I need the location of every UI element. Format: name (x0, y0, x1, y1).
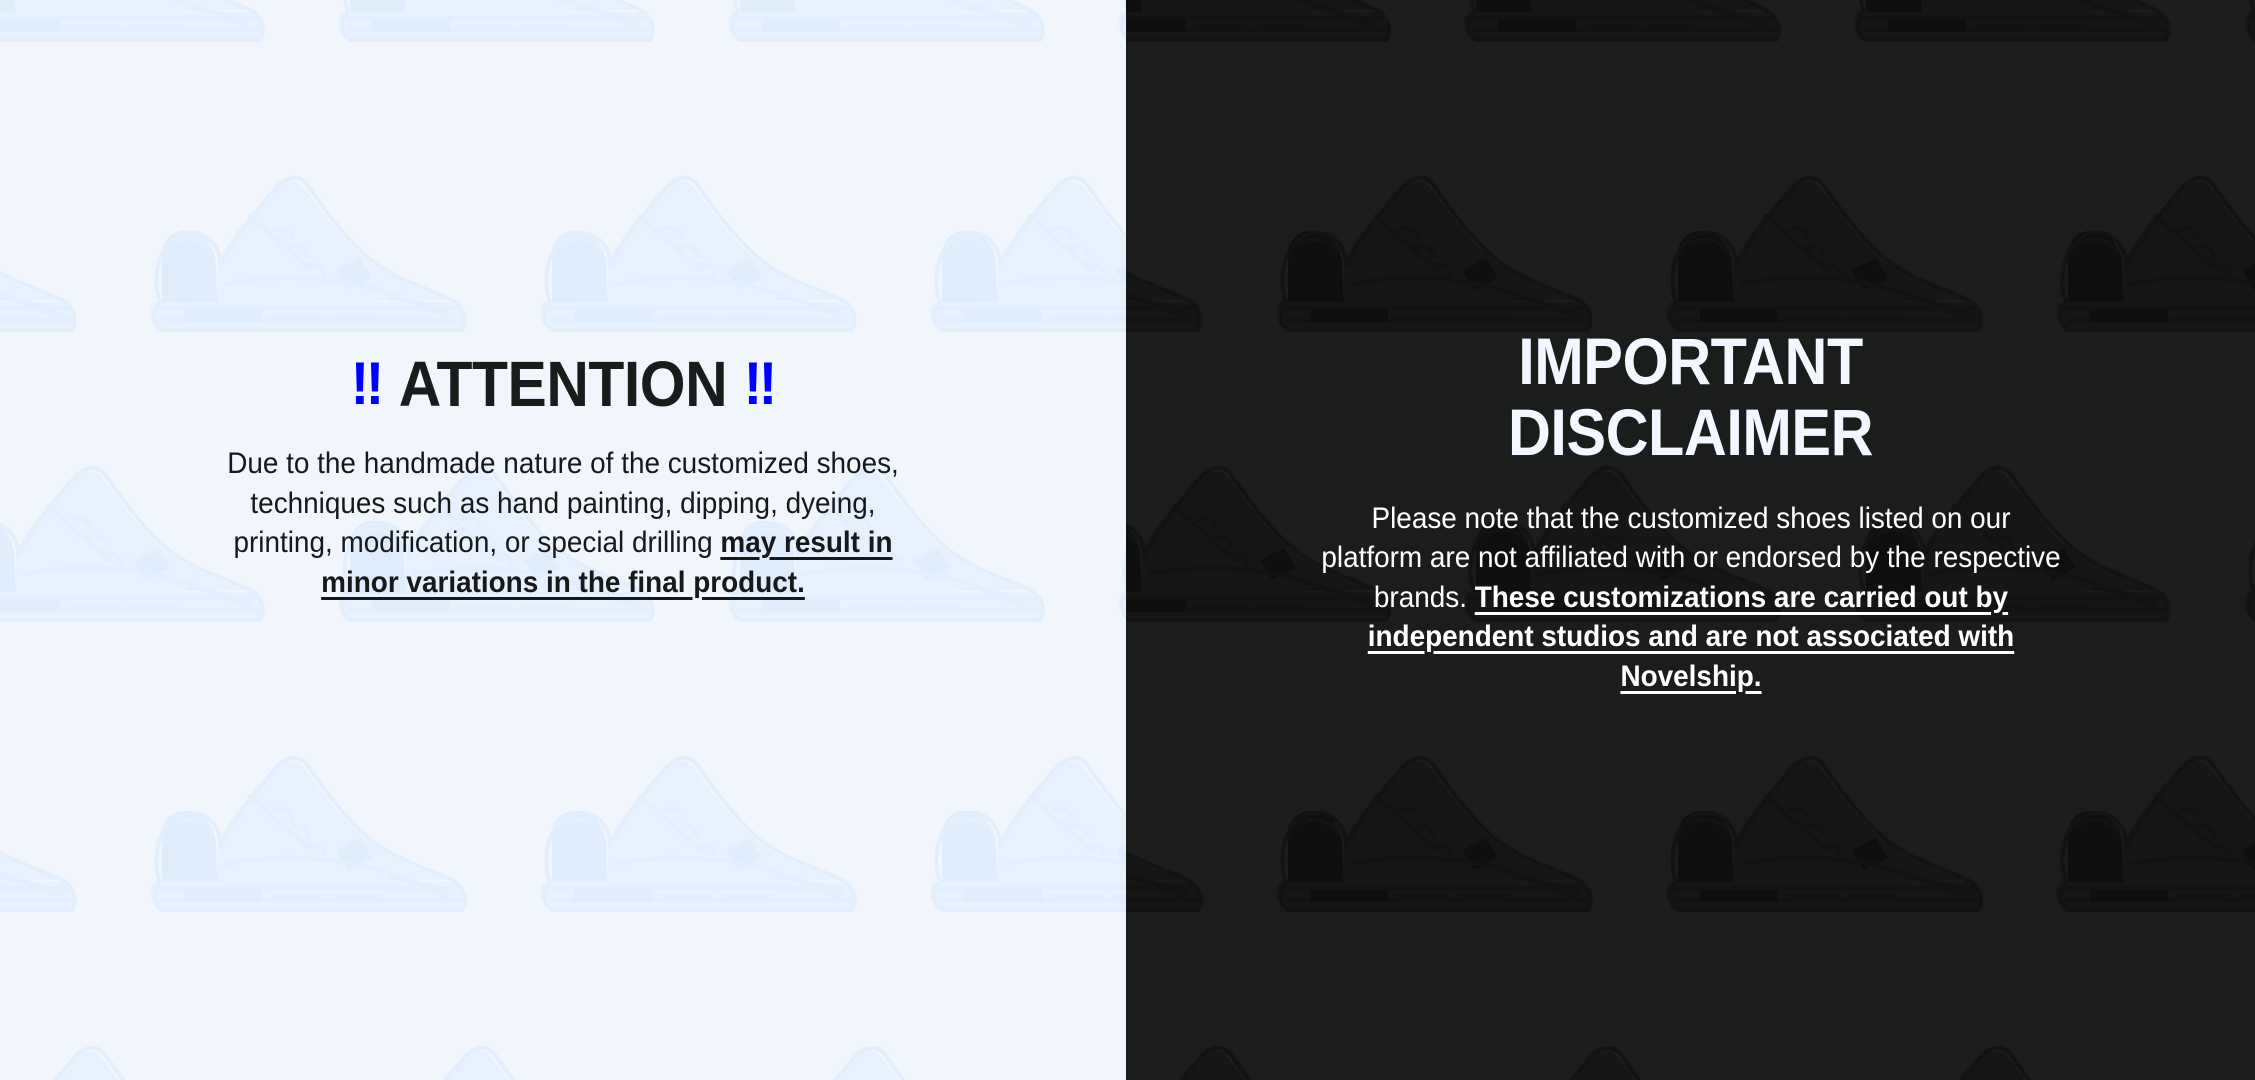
disclaimer-heading: IMPORTANT DISCLAIMER (1182, 326, 2198, 469)
sneaker-icon (1126, 0, 1422, 100)
sneaker-icon (0, 1000, 296, 1080)
disclaimer-content: IMPORTANT DISCLAIMER Please note that th… (1126, 326, 2255, 697)
sneaker-icon (2216, 1000, 2255, 1080)
sneaker-icon (1248, 710, 1624, 970)
disclaimer-body: Please note that the customized shoes li… (1319, 499, 2063, 697)
sneaker-icon (1826, 1000, 2202, 1080)
sneaker-icon (902, 130, 1126, 390)
sneaker-icon (0, 0, 296, 100)
double-exclamation-left-icon: ‼ (351, 350, 383, 417)
sneaker-icon (310, 0, 686, 100)
disclaimer-heading-line1: IMPORTANT (1182, 326, 2198, 397)
double-exclamation-right-icon: ‼ (744, 350, 776, 417)
sneaker-icon (1638, 710, 2014, 970)
sneaker-icon (122, 710, 498, 970)
attention-body: Due to the handmade nature of the custom… (200, 444, 925, 602)
sneaker-pattern-row (0, 710, 1126, 970)
sneaker-icon (1436, 0, 1812, 100)
attention-heading: ‼ATTENTION‼ (45, 352, 1081, 416)
sneaker-icon (0, 130, 108, 390)
sneaker-icon (1126, 710, 1234, 970)
sneaker-icon (700, 0, 1076, 100)
disclaimer-heading-line2: DISCLAIMER (1182, 397, 2198, 468)
sneaker-icon (1090, 0, 1126, 100)
attention-heading-text: ATTENTION (399, 348, 727, 420)
attention-panel: ‼ATTENTION‼ Due to the handmade nature o… (0, 0, 1126, 1080)
sneaker-icon (1090, 1000, 1126, 1080)
sneaker-icon (512, 710, 888, 970)
sneaker-icon (700, 1000, 1076, 1080)
sneaker-icon (2028, 710, 2255, 970)
sneaker-pattern-row (0, 1000, 1126, 1080)
sneaker-icon (1436, 1000, 1812, 1080)
sneaker-icon (1126, 1000, 1422, 1080)
sneaker-icon (0, 710, 108, 970)
sneaker-icon (1826, 0, 2202, 100)
disclaimer-banner: ‼ATTENTION‼ Due to the handmade nature o… (0, 0, 2255, 1080)
sneaker-icon (2216, 0, 2255, 100)
sneaker-pattern-row (1126, 1000, 2255, 1080)
sneaker-icon (310, 1000, 686, 1080)
attention-content: ‼ATTENTION‼ Due to the handmade nature o… (0, 352, 1126, 602)
sneaker-pattern-row (1126, 0, 2255, 100)
sneaker-pattern-row (1126, 710, 2255, 970)
disclaimer-panel: IMPORTANT DISCLAIMER Please note that th… (1126, 0, 2255, 1080)
sneaker-icon (902, 710, 1126, 970)
sneaker-pattern-row (0, 0, 1126, 100)
